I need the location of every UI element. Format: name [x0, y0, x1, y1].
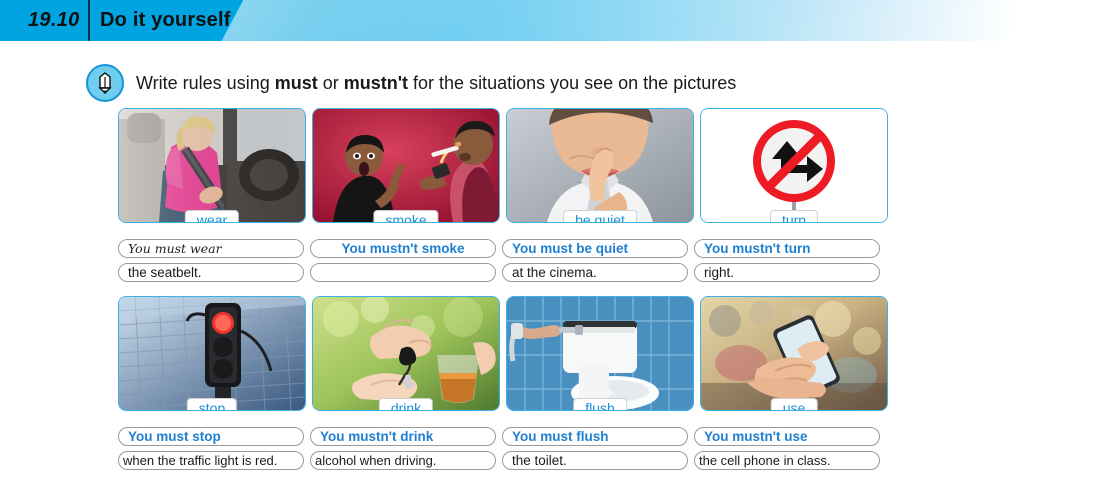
card-label: turn: [770, 210, 818, 223]
pencil-icon-glyph: [97, 72, 113, 94]
exercise-row-1: wear: [118, 108, 984, 282]
card-label: flush: [573, 398, 627, 411]
answer-line-2[interactable]: the cell phone in class.: [694, 451, 880, 470]
image-card-drink[interactable]: drink: [312, 296, 500, 411]
image-card-row-2: stop: [118, 296, 984, 411]
answer-line-1[interactable]: You mustn't use: [694, 427, 880, 446]
card-label: wear: [185, 210, 239, 223]
answer-line-1[interactable]: You mustn't drink: [310, 427, 496, 446]
instruction-bold-must: must: [275, 73, 318, 93]
answer-col-drink: You mustn't drink alcohol when driving.: [310, 427, 496, 470]
answer-col-use: You mustn't use the cell phone in class.: [694, 427, 880, 470]
answer-line-2[interactable]: the seatbelt.: [118, 263, 304, 282]
page-title: Do it yourself: [100, 9, 231, 32]
image-card-be-quiet[interactable]: be quiet: [506, 108, 694, 223]
exercise-row-2: stop: [118, 296, 984, 470]
pencil-icon: [86, 64, 124, 102]
card-label: stop: [187, 398, 237, 411]
instruction-after: for the situations you see on the pictur…: [408, 73, 736, 93]
answer-line-1[interactable]: You must flush: [502, 427, 688, 446]
illustration-boy-pointing-at-man-lighting-cigarette: [313, 109, 499, 222]
answer-line-2[interactable]: right.: [694, 263, 880, 282]
instruction-bold-mustnt: mustn't: [344, 73, 408, 93]
illustration-hands-holding-smartphone: [701, 297, 887, 410]
header-sheen: [201, 0, 879, 41]
answer-line-1[interactable]: You mustn't turn: [694, 239, 880, 258]
illustration-woman-fastening-seatbelt: [119, 109, 305, 222]
card-label: be quiet: [563, 210, 637, 223]
illustration-red-traffic-light-building: [119, 297, 305, 410]
exercise-grid: wear: [118, 108, 984, 470]
answer-row-2: You must stop when the traffic light is …: [118, 427, 984, 470]
image-card-row-1: wear: [118, 108, 984, 223]
answer-line-1[interactable]: You mustn't smoke: [310, 239, 496, 258]
image-card-stop[interactable]: stop: [118, 296, 306, 411]
answer-col-be-quiet: You must be quiet at the cinema.: [502, 239, 688, 282]
instruction-row: Write rules using must or mustn't for th…: [86, 64, 736, 102]
illustration-man-finger-to-lips-shh: [507, 109, 693, 222]
image-card-use[interactable]: use: [700, 296, 888, 411]
answer-col-wear: You must wear the seatbelt.: [118, 239, 304, 282]
answer-col-turn: You mustn't turn right.: [694, 239, 880, 282]
answer-col-flush: You must flush the toilet.: [502, 427, 688, 470]
answer-col-stop: You must stop when the traffic light is …: [118, 427, 304, 470]
card-label: drink: [379, 398, 433, 411]
illustration-no-right-turn-sign: [701, 109, 887, 222]
card-label: use: [771, 398, 818, 411]
answer-line-1[interactable]: You must stop: [118, 427, 304, 446]
answer-line-2[interactable]: at the cinema.: [502, 263, 688, 282]
instruction-before: Write rules using: [136, 73, 275, 93]
answer-line-1[interactable]: You must wear: [118, 239, 304, 258]
instruction-text: Write rules using must or mustn't for th…: [136, 73, 736, 94]
instruction-middle: or: [318, 73, 344, 93]
section-number: 19.10: [28, 9, 80, 32]
illustration-hand-flushing-toilet: [507, 297, 693, 410]
answer-line-1[interactable]: You must be quiet: [502, 239, 688, 258]
answer-row-1: You must wear the seatbelt. You mustn't …: [118, 239, 984, 282]
page-header: 19.10 Do it yourself: [0, 0, 1100, 41]
image-card-wear[interactable]: wear: [118, 108, 306, 223]
image-card-flush[interactable]: flush: [506, 296, 694, 411]
header-divider: [88, 0, 90, 41]
answer-line-2[interactable]: alcohol when driving.: [310, 451, 496, 470]
illustration-handing-car-keys-with-whiskey-glass: [313, 297, 499, 410]
image-card-turn[interactable]: turn: [700, 108, 888, 223]
image-card-smoke[interactable]: smoke: [312, 108, 500, 223]
card-label: smoke: [373, 210, 438, 223]
answer-line-2[interactable]: [310, 263, 496, 282]
answer-line-2[interactable]: the toilet.: [502, 451, 688, 470]
answer-line-2[interactable]: when the traffic light is red.: [118, 451, 304, 470]
answer-col-smoke: You mustn't smoke: [310, 239, 496, 282]
